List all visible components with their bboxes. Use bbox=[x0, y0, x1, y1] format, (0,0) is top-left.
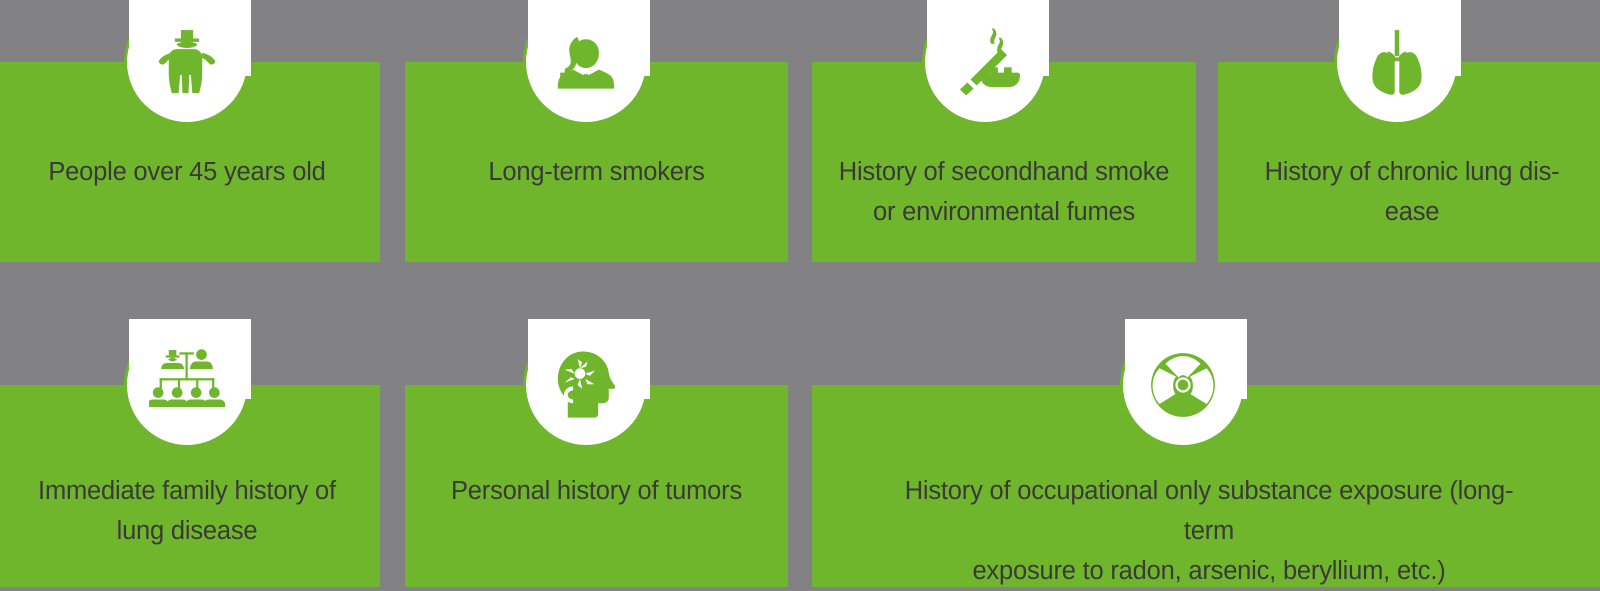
smoker-portrait-icon bbox=[523, 0, 649, 125]
lungs-icon bbox=[1334, 0, 1460, 125]
risk-factors-infographic: People over 45 years oldLong-term smoker… bbox=[0, 0, 1600, 587]
risk-card-label-personal-history-tumors: Personal history of tumors bbox=[420, 471, 772, 511]
cigarette-ashtray-icon bbox=[922, 0, 1048, 125]
risk-card-label-family-history-lung-disease: Immediate family history of lung disease bbox=[9, 471, 364, 551]
risk-card-label-occupational-exposure: History of occupational only substance e… bbox=[899, 471, 1518, 591]
risk-card-label-chronic-lung-disease: History of chronic lung dis- ease bbox=[1234, 152, 1591, 232]
radiation-icon bbox=[1120, 322, 1246, 448]
family-tree-icon bbox=[124, 322, 250, 448]
risk-card-label-people-over-45: People over 45 years old bbox=[9, 152, 364, 192]
risk-card-label-secondhand-smoke: History of secondhand smoke or environme… bbox=[827, 152, 1180, 232]
risk-card-label-long-term-smokers: Long-term smokers bbox=[420, 152, 772, 192]
man-shrugging-icon bbox=[124, 0, 250, 125]
head-neuron-icon bbox=[523, 322, 649, 448]
